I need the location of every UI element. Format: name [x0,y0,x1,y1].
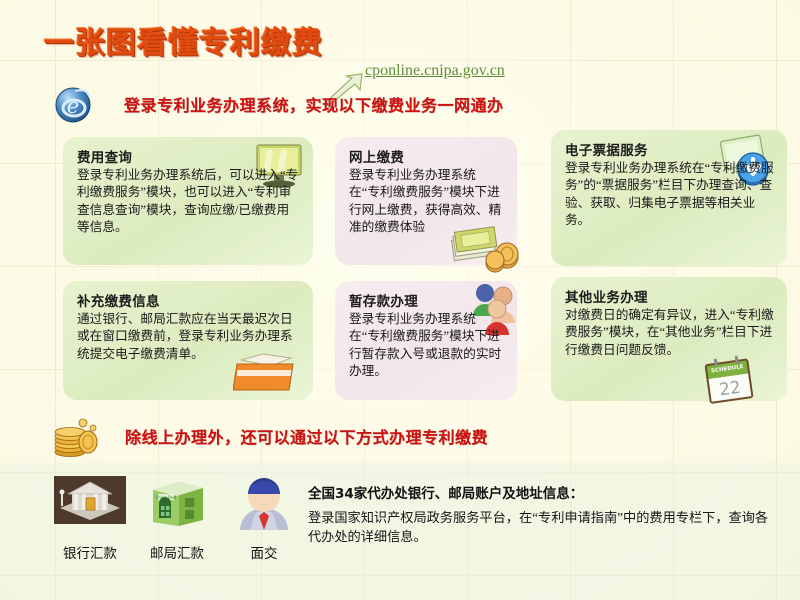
person-icon [226,474,302,534]
bank-building-icon [52,474,128,534]
card-title: 网上缴费 [349,146,505,166]
card-body: 登录专利业务办理系统后，可以进入“专利缴费服务”模块，也可以进入“专利审查信息查… [77,167,301,237]
agency-info-block: 全国34家代办处银行、邮局账户及地址信息： 登录国家知识产权局政务服务平台，在“… [308,482,778,546]
header-subtitle: 登录专利业务办理系统，实现以下缴费业务一网通办 [124,92,504,116]
agency-info-body: 登录国家知识产权局政务服务平台，在“专利申请指南”中的费用专栏下，查询各代办处的… [308,508,778,546]
card-fee-inquiry[interactable]: 费用查询 登录专利业务办理系统后，可以进入“专利缴费服务”模块，也可以进入“专利… [63,137,313,265]
card-body: 登录专利业务办理系统在“专利缴费服务”的“票据服务”栏目下办理查询、查验、获取、… [565,160,775,230]
payment-method-label: 邮局汇款 [135,542,219,562]
svg-text:e: e [67,94,79,118]
card-body: 对缴费日的确定有异议，进入“专利缴费服务”模块，在“其他业务”栏目下进行缴费日问… [565,307,775,359]
gold-coins-icon [50,415,102,457]
card-body: 登录专利业务办理系统在“专利缴费服务”模块下进行网上缴费，获得高效、精准的缴费体… [349,167,505,237]
card-body: 登录专利业务办理系统在“专利缴费服务”模块下进行暂存款入号或退款的实时办理。 [349,311,505,381]
payment-method-in-person[interactable]: 面交 [222,474,306,562]
card-electronic-receipt[interactable]: 电子票据服务 登录专利业务办理系统在“专利缴费服务”的“票据服务”栏目下办理查询… [551,130,787,266]
card-other-business[interactable]: SCHEDULE 22 其他业务办理 对缴费日的确定有异议，进入“专利缴费服务”… [551,277,787,401]
card-title: 其他业务办理 [565,286,775,306]
payment-method-post-office[interactable]: China Post 邮局汇款 [135,474,219,562]
calendar-day: 22 [718,378,742,401]
internet-explorer-icon: e [53,84,93,124]
payment-method-bank[interactable]: 银行汇款 [48,474,132,562]
calendar-icon: SCHEDULE 22 [701,355,759,407]
card-supplement-payment-info[interactable]: 补充缴费信息 通过银行、邮局汇款应在当天最迟次日或在窗口缴费前，登录专利业务办理… [63,281,313,400]
payment-method-label: 银行汇款 [48,542,132,562]
payment-method-label: 面交 [222,542,306,562]
cponline-url-link[interactable]: cponline.cnipa.gov.cn [365,62,505,80]
post-office-icon: China Post [139,474,215,534]
infographic-canvas: 一张图看懂专利缴费 cponline.cnipa.gov.cn e 登录专利业务… [0,0,800,600]
card-deposit-handling[interactable]: 暂存款办理 登录专利业务办理系统在“专利缴费服务”模块下进行暂存款入号或退款的实… [335,281,517,400]
card-title: 补充缴费信息 [77,290,301,310]
agency-info-title: 全国34家代办处银行、邮局账户及地址信息： [308,482,778,502]
card-body: 通过银行、邮局汇款应在当天最迟次日或在窗口缴费前，登录专利业务办理系统提交电子缴… [77,311,301,363]
card-online-payment[interactable]: 网上缴费 登录专利业务办理系统在“专利缴费服务”模块下进行网上缴费，获得高效、精… [335,137,517,265]
page-title: 一张图看懂专利缴费 [44,18,323,62]
bottom-section-heading: 除线上办理外，还可以通过以下方式办理专利缴费 [125,424,488,448]
